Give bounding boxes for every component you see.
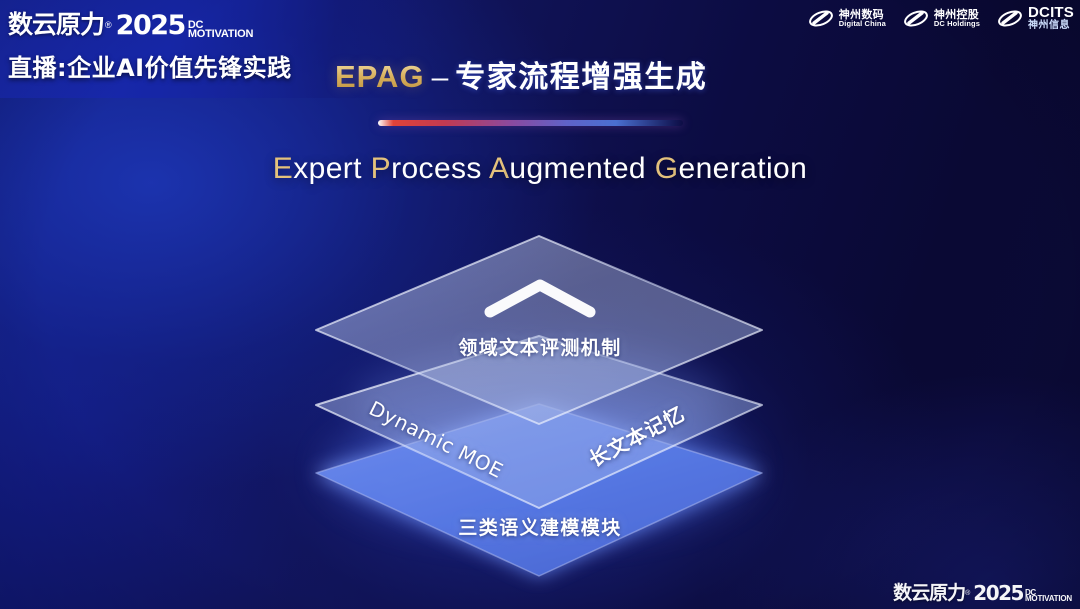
partner-logo-dc-holdings: 神州控股 DC Holdings [903,8,980,29]
page-title: EPAG–专家流程增强生成 [335,52,707,96]
live-stream-title: 直播:企业AI价值先锋实践 [8,48,292,83]
chevron-up-icon [482,276,598,320]
title-chinese: 专家流程增强生成 [455,60,707,95]
partner-logo-dcits: DCITS 神州信息 [997,5,1074,31]
partner-name-cn: 神州信息 [1028,20,1074,31]
brand-logo: 数云原力 ® 2025 DC MOTIVATION [8,5,253,41]
slide-canvas: 数云原力 ® 2025 DC MOTIVATION 直播:企业AI价值先锋实践 … [0,0,1080,609]
title-dash: – [432,61,449,94]
subtitle-word-generation: Generation [655,152,807,185]
brand-motivation-text: MOTIVATION [188,30,253,39]
subtitle-word-augmented: Augmented [489,152,646,185]
swirl-logo-icon [997,8,1023,29]
watermark-name-cn: 数云原力 [893,578,965,605]
partner-logo-group: 神州数码 Digital China 神州控股 DC Holdings [808,5,1074,31]
layer-label-top: 领域文本评测机制 [0,333,1080,360]
watermark-year: 2025 [973,581,1023,605]
gradient-divider [378,120,683,126]
watermark-registered: ® [965,590,970,597]
watermark-logo: 数云原力 ® 2025 DC MOTIVATION [893,578,1072,605]
partner-name-en: DC Holdings [934,20,980,28]
subtitle-word-expert: Expert [273,152,362,185]
swirl-logo-icon [903,8,929,29]
partner-name-en: DCITS [1028,5,1074,20]
partner-logo-digital-china: 神州数码 Digital China [808,8,886,29]
brand-year: 2025 [116,10,185,41]
subtitle: Expert Process Augmented Generation [0,152,1080,186]
brand-name-cn: 数云原力 [8,5,104,41]
watermark-dc-motivation: DC MOTIVATION [1025,590,1072,603]
registered-mark: ® [105,20,112,30]
layer-label-bottom: 三类语义建模模块 [0,513,1080,540]
partner-name-en: Digital China [839,20,886,28]
subtitle-word-process: Process [371,152,482,185]
watermark-motivation-text: MOTIVATION [1025,596,1072,603]
brand-dc-motivation: DC MOTIVATION [188,21,253,39]
title-acronym: EPAG [335,59,425,94]
swirl-logo-icon [808,8,834,29]
